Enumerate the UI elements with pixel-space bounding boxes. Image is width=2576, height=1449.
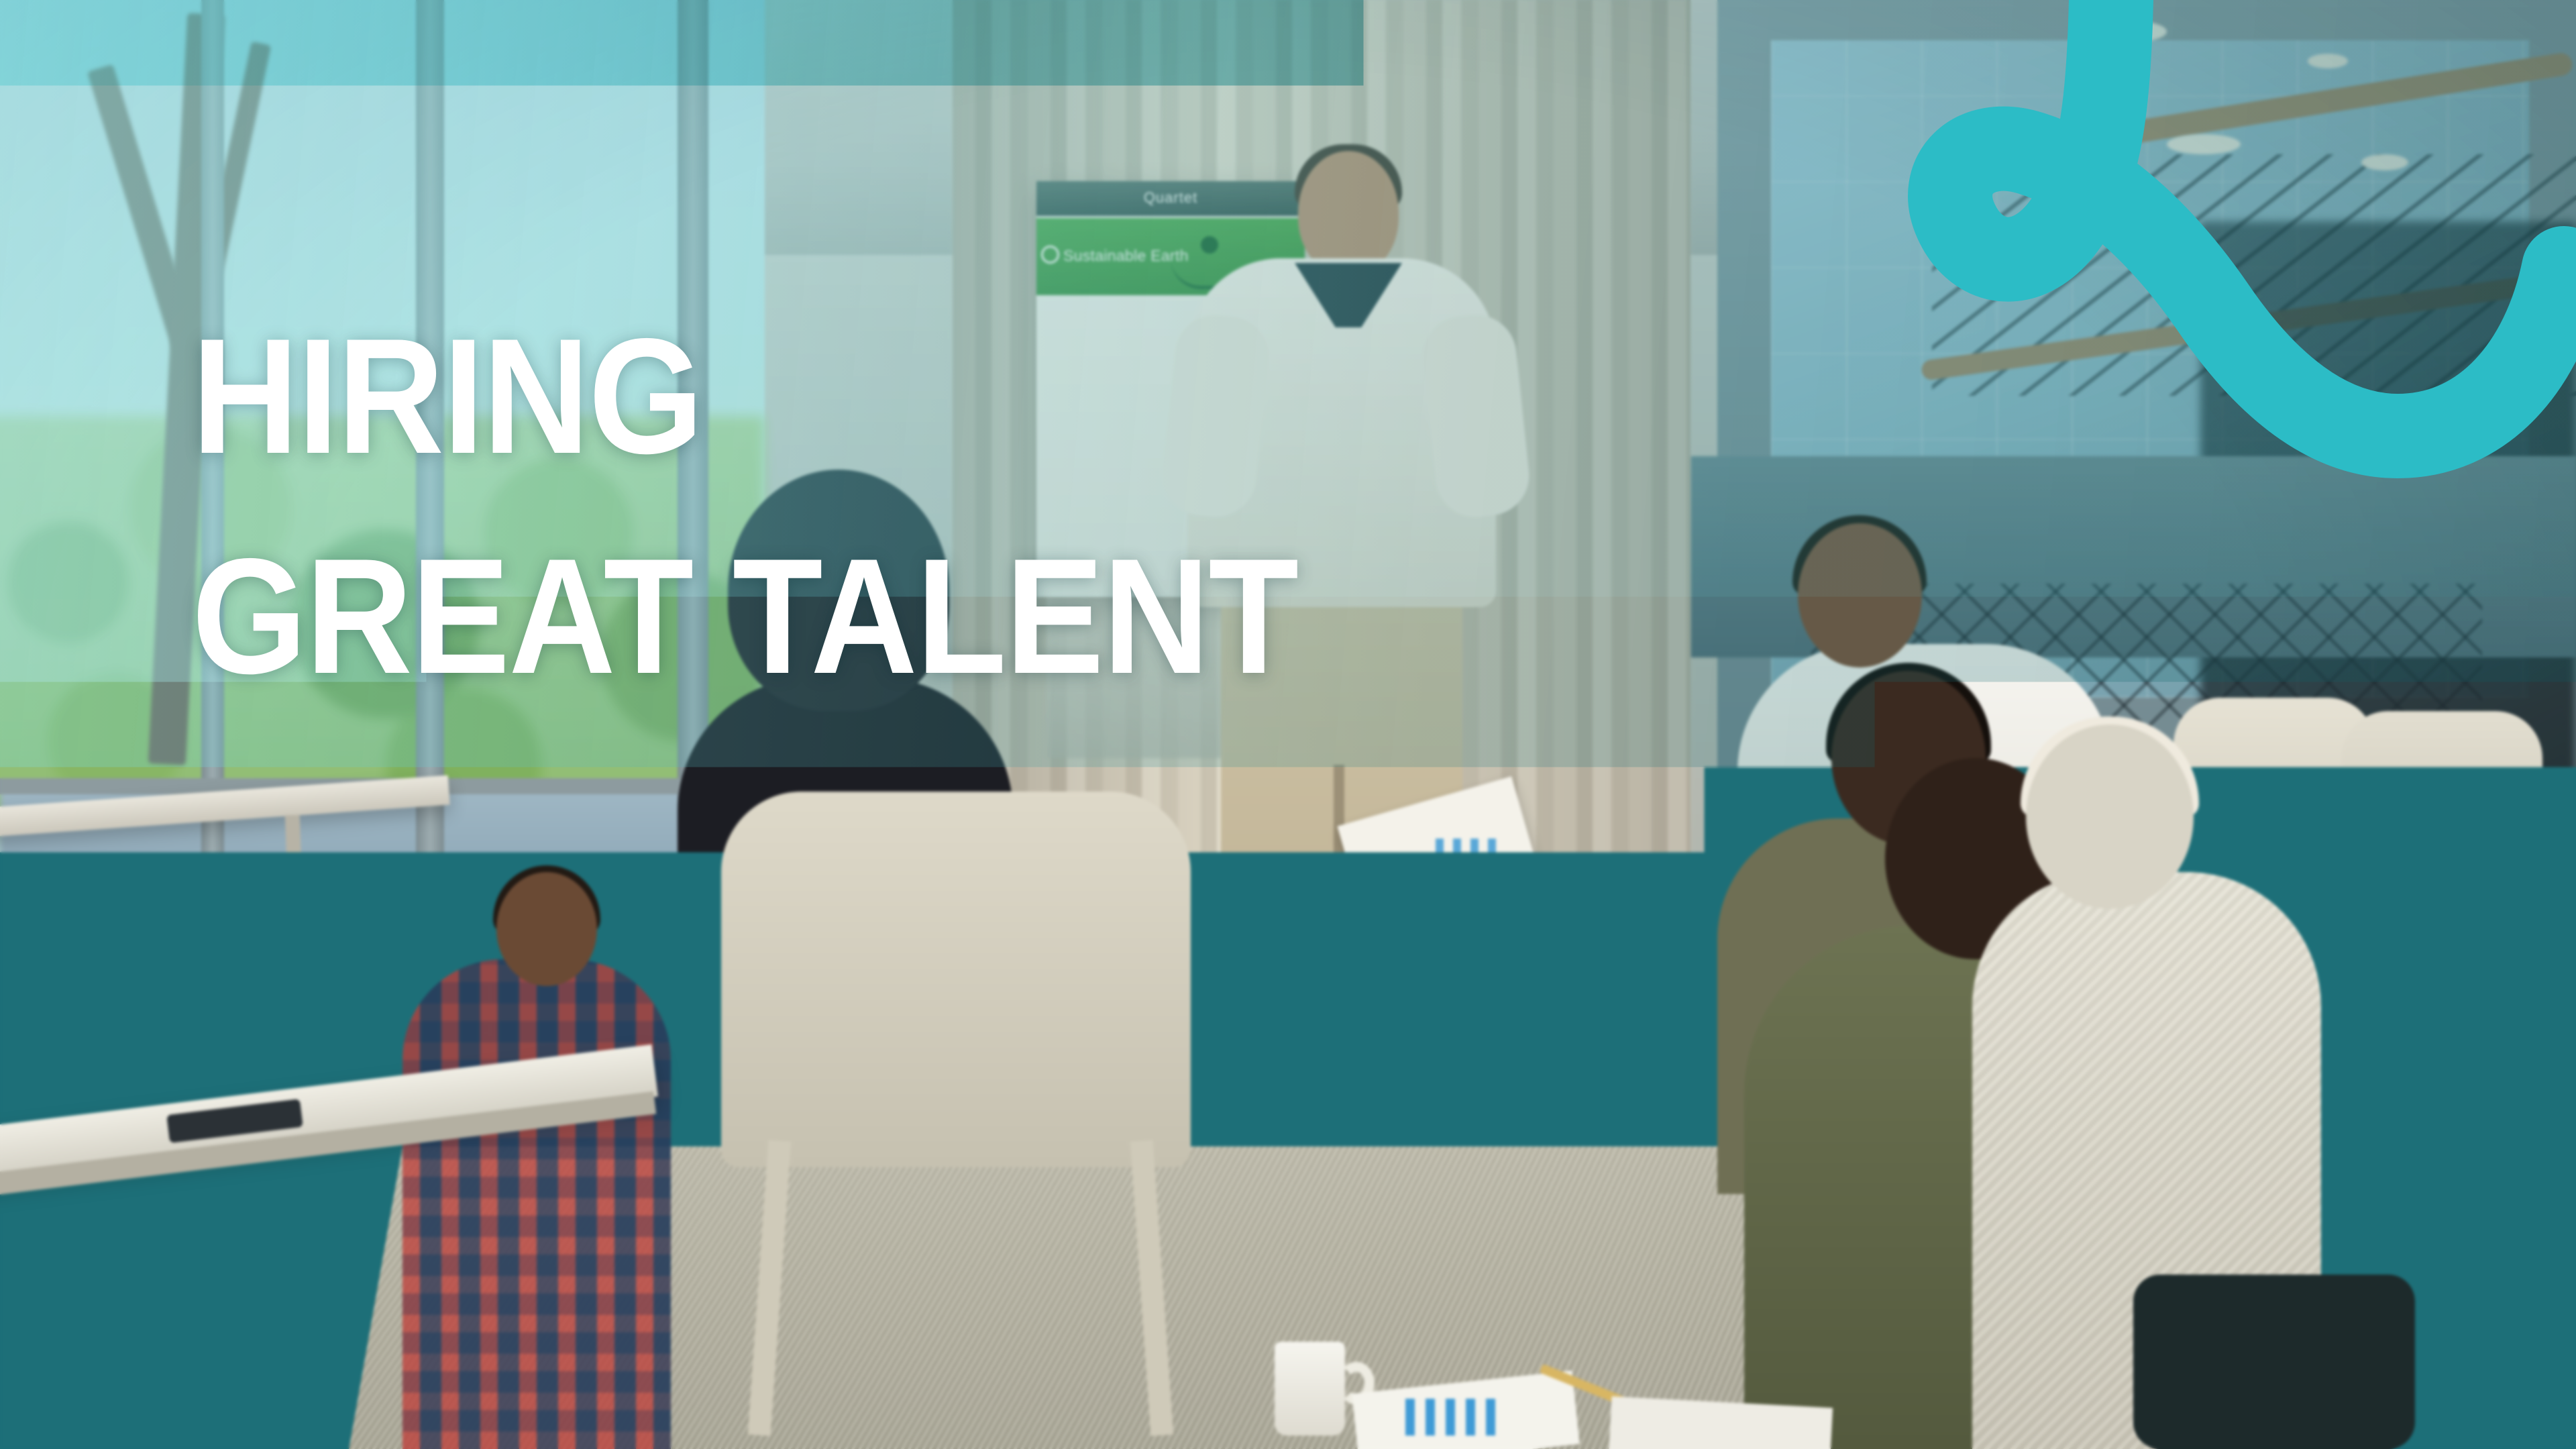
divider-rule (186, 865, 1815, 873)
headline-line-1: HIRING (192, 322, 702, 470)
headline-line-2: GREAT TALENT (192, 542, 1297, 690)
subtitle: WELCOME TO OUR NEW HIRE (236, 1002, 888, 1051)
banner-content: HIRING GREAT TALENT WELCOME TO OUR NEW H… (0, 0, 2576, 1449)
hiring-banner: Quartet Sustainable Earth (0, 0, 2576, 1449)
